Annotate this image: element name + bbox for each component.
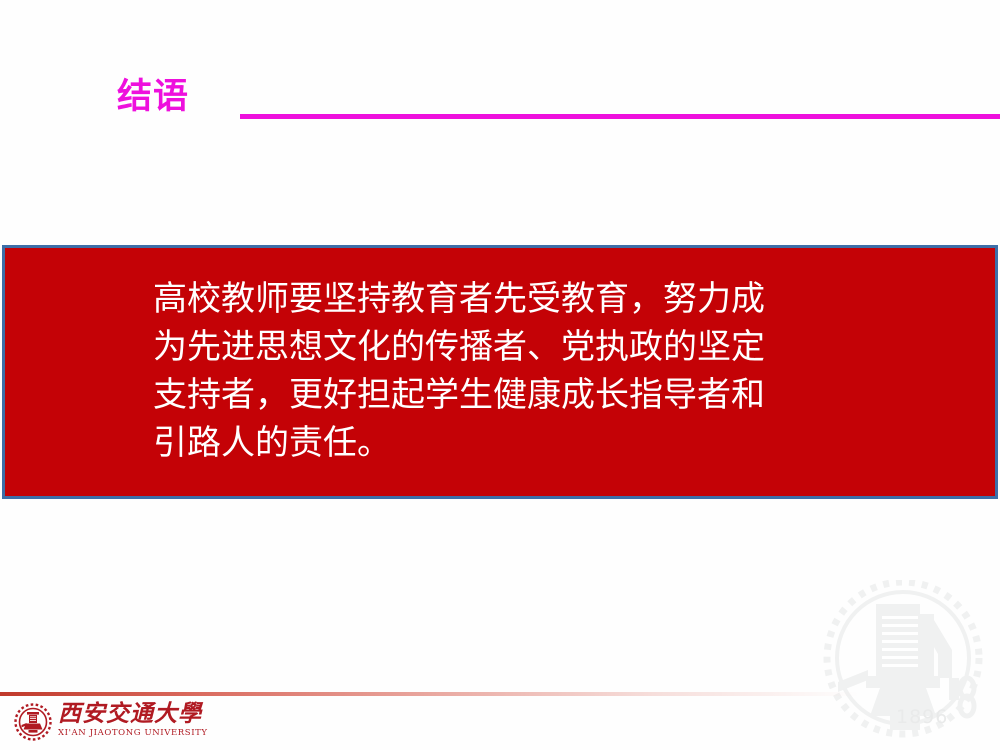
university-emblem-watermark: 1896 [808,580,998,750]
content-line: 引路人的责任。 [153,419,883,467]
content-callout-box: 高校教师要坚持教育者先受教育，努力成 为先进思想文化的传播者、党执政的坚定 支持… [2,245,998,499]
watermark-year: 1896 [896,706,948,728]
page-title: 结语 [117,74,189,120]
slide-canvas: 1896 结语 高校教师要坚持教育者先受教育，努力成 为先进思想文化的传播者、党… [0,0,1000,750]
chain-links [960,678,974,716]
university-name-cn: 西安交通大學 [58,701,183,727]
title-row: 结语 [0,74,1000,130]
content-line: 高校教师要坚持教育者先受教育，努力成 [153,275,883,323]
university-logo-text: 西安交通大學 XI'AN JIAOTONG UNIVERSITY [58,701,183,738]
gear-teeth [827,582,979,734]
university-name-en: XI'AN JIAOTONG UNIVERSITY [58,728,183,738]
university-seal-icon [14,703,52,741]
content-paragraph: 高校教师要坚持教育者先受教育，努力成 为先进思想文化的传播者、党执政的坚定 支持… [153,275,883,467]
university-logo: 西安交通大學 XI'AN JIAOTONG UNIVERSITY [14,701,179,745]
ruled-lines [882,616,918,667]
content-line: 支持者，更好担起学生健康成长指导者和 [153,371,883,419]
footer-divider [0,692,860,696]
title-underline-rule [240,114,1000,119]
content-line: 为先进思想文化的传播者、党执政的坚定 [153,323,883,371]
press-emblem [838,604,959,730]
